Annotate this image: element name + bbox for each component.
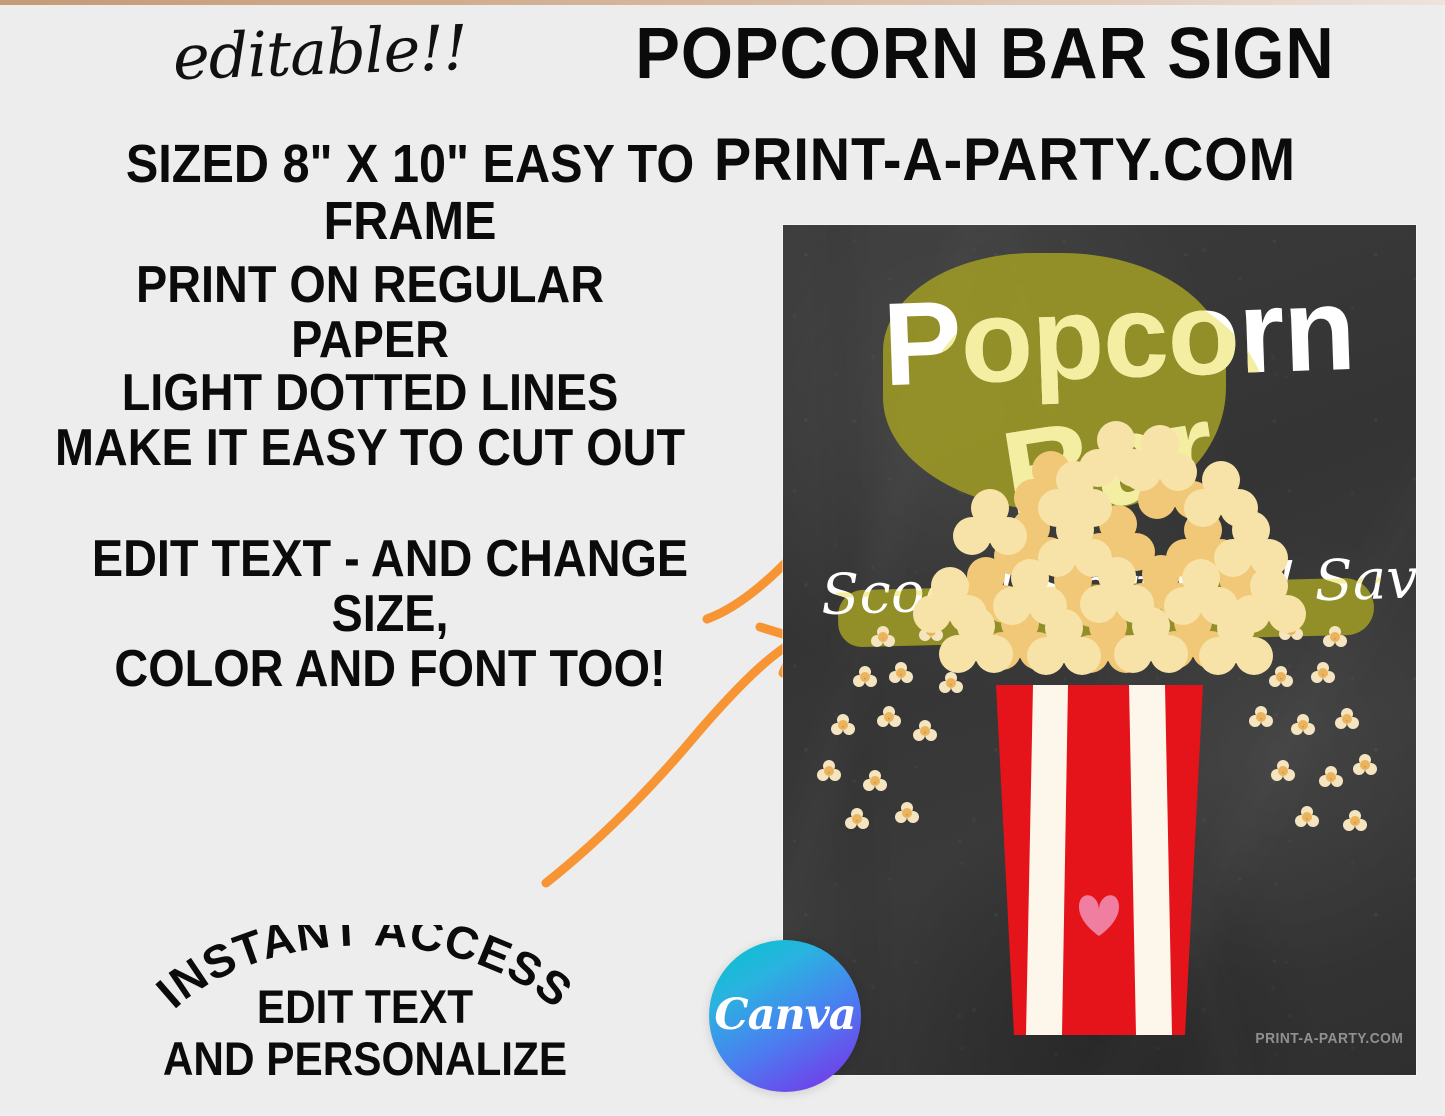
feature-edit-text: EDIT TEXT - AND CHANGE SIZE, COLOR AND F… bbox=[48, 532, 732, 697]
top-accent-strip bbox=[0, 0, 1445, 5]
page-title: POPCORN BAR SIGN bbox=[571, 18, 1399, 90]
feature-edit-text-line2: COLOR AND FONT TOO! bbox=[48, 642, 732, 697]
popcorn-illustration bbox=[783, 225, 1416, 1075]
feature-dotted-lines-line2: MAKE IT EASY TO CUT OUT bbox=[46, 421, 694, 476]
editable-badge-text: editable!! bbox=[149, 16, 491, 90]
popcorn-pile bbox=[913, 421, 1306, 675]
canva-badge[interactable]: Canva bbox=[709, 940, 861, 1092]
popcorn-box bbox=[996, 685, 1203, 1035]
feature-dotted-lines: LIGHT DOTTED LINES MAKE IT EASY TO CUT O… bbox=[46, 366, 694, 476]
instant-access-badge: INSTANT ACCESS EDIT TEXT AND PERSONALIZE bbox=[130, 925, 600, 1115]
feature-size: SIZED 8" X 10" EASY TO FRAME bbox=[50, 136, 770, 250]
feature-print: PRINT ON REGULAR PAPER bbox=[55, 258, 685, 368]
feature-dotted-lines-line1: LIGHT DOTTED LINES bbox=[46, 366, 694, 421]
poster-watermark: PRINT-A-PARTY.COM bbox=[1256, 1030, 1404, 1047]
canva-label: Canva bbox=[714, 990, 855, 1040]
badge-line-edit-text: EDIT TEXT bbox=[154, 983, 577, 1031]
poster-preview[interactable]: Popcorn Bar Popcorn Bar Scoop! Sprinkle!… bbox=[783, 225, 1416, 1075]
badge-line-personalize: AND PERSONALIZE bbox=[154, 1035, 577, 1083]
feature-edit-text-line1: EDIT TEXT - AND CHANGE SIZE, bbox=[48, 532, 732, 642]
